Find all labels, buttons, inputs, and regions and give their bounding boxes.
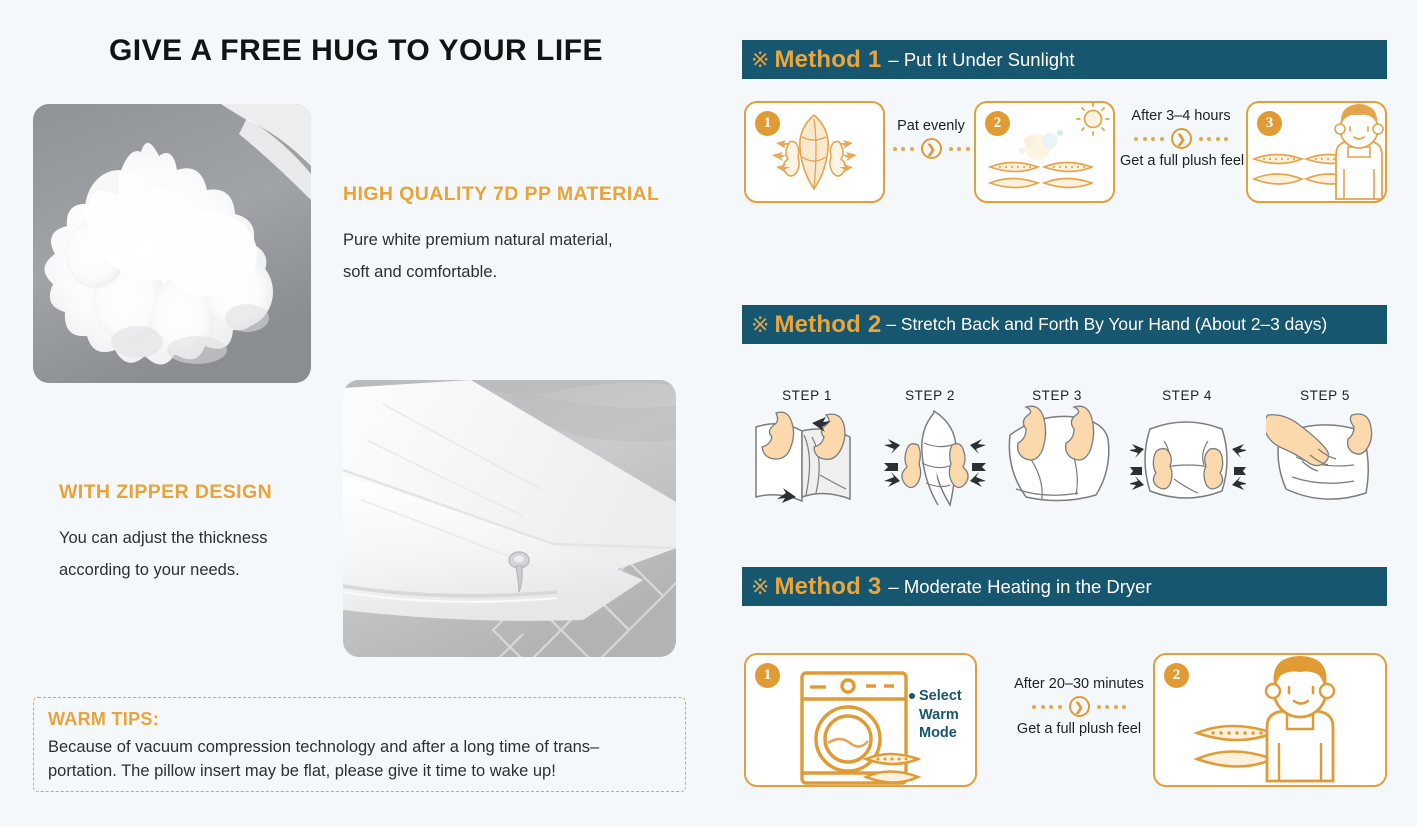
method-2-step-3-label: STEP 3	[1012, 388, 1102, 403]
feature-zipper-line-2: according to your needs.	[59, 554, 272, 586]
feature-zipper-line-1: You can adjust the thickness	[59, 522, 272, 554]
arrow-right-icon: ❯	[1171, 128, 1192, 149]
warm-tips-title: WARM TIPS:	[48, 709, 671, 730]
dots-left	[1032, 705, 1062, 709]
warm-tips-box: WARM TIPS: Because of vacuum compression…	[33, 697, 686, 792]
method-2-subtitle: – Stretch Back and Forth By Your Hand (A…	[886, 314, 1327, 335]
method-3-step-1-panel: 1	[744, 653, 977, 787]
method-1-header: ※ Method 1 – Put It Under Sunlight	[742, 40, 1387, 79]
dots-right	[1199, 137, 1229, 141]
hands-pull-apart-icon	[1130, 405, 1246, 515]
method-2-step-4-label: STEP 4	[1142, 388, 1232, 403]
dots-left	[1134, 137, 1164, 141]
bullet-icon	[909, 693, 915, 699]
note-line-1: Select	[909, 687, 962, 706]
step-badge: 1	[755, 663, 780, 688]
connector-bottom-text: Get a full plush feel	[1005, 721, 1153, 737]
method-2-step-1-label: STEP 1	[762, 388, 852, 403]
feature-zipper-title: WITH ZIPPER DESIGN	[59, 481, 272, 504]
method-1-connector-1: Pat evenly ❯	[890, 118, 972, 163]
method-1-connector-2: After 3–4 hours ❯ Get a full plush feel	[1120, 108, 1242, 169]
method-2-step-5-label: STEP 5	[1280, 388, 1370, 403]
method-3-step-2-panel: 2	[1153, 653, 1387, 787]
arrow-right-icon: ❯	[1069, 696, 1090, 717]
method-1-step-1-panel: 1	[744, 101, 885, 203]
method-3-subtitle: – Moderate Heating in the Dryer	[888, 576, 1151, 598]
asterisk-icon: ※	[751, 314, 769, 336]
hand-smooth-pillow-icon	[1266, 405, 1382, 515]
connector-arrow-row: ❯	[1120, 128, 1242, 149]
warm-tips-line-2: portation. The pillow insert may be flat…	[48, 760, 671, 784]
feature-material-line-1: Pure white premium natural material,	[343, 224, 659, 256]
select-warm-mode-note: Select Warm Mode	[909, 687, 962, 743]
step-badge: 1	[755, 111, 780, 136]
page-title: GIVE A FREE HUG TO YOUR LIFE	[0, 34, 712, 68]
method-1-name: Method 1	[774, 46, 881, 74]
connector-top-text: After 3–4 hours	[1120, 108, 1242, 124]
method-1-step-3-panel: 3	[1246, 101, 1387, 203]
step-badge: 3	[1257, 111, 1282, 136]
right-column: ※ Method 1 – Put It Under Sunlight 1	[742, 0, 1387, 827]
method-2-header: ※ Method 2 – Stretch Back and Forth By Y…	[742, 305, 1387, 344]
arrow-right-icon: ❯	[921, 138, 942, 159]
hands-press-down-icon	[1000, 405, 1116, 515]
asterisk-icon: ※	[751, 576, 769, 598]
connector-arrow-row: ❯	[890, 138, 972, 159]
left-column: GIVE A FREE HUG TO YOUR LIFE	[0, 0, 712, 827]
asterisk-icon: ※	[751, 49, 769, 71]
hands-squeeze-vertical-icon	[876, 405, 992, 515]
connector-top-text: Pat evenly	[890, 118, 972, 134]
connector-arrow-row: ❯	[1005, 696, 1153, 717]
person-with-pillows-icon	[1155, 655, 1385, 785]
note-line-2: Warm	[909, 706, 962, 725]
feature-material-title: HIGH QUALITY 7D PP MATERIAL	[343, 183, 659, 206]
method-3-connector: After 20–30 minutes ❯ Get a full plush f…	[1005, 676, 1153, 737]
method-1-step-2-panel: 2	[974, 101, 1115, 203]
dots-right	[949, 147, 970, 151]
feature-zipper: WITH ZIPPER DESIGN You can adjust the th…	[59, 481, 272, 586]
step-badge: 2	[985, 111, 1010, 136]
connector-bottom-text: Get a full plush feel	[1120, 153, 1242, 169]
dots-left	[893, 147, 914, 151]
zipper-pillow-photo	[343, 380, 676, 657]
two-hands-stretch-icon	[750, 405, 866, 515]
step-badge: 2	[1164, 663, 1189, 688]
feature-material-line-2: soft and comfortable.	[343, 256, 659, 288]
method-3-header: ※ Method 3 – Moderate Heating in the Dry…	[742, 567, 1387, 606]
feature-material: HIGH QUALITY 7D PP MATERIAL Pure white p…	[343, 183, 659, 288]
method-2-step-2-label: STEP 2	[885, 388, 975, 403]
fiber-filling-photo	[33, 104, 311, 383]
method-3-name: Method 3	[774, 573, 881, 601]
dots-right	[1097, 705, 1127, 709]
method-1-subtitle: – Put It Under Sunlight	[888, 49, 1074, 71]
infographic-page: GIVE A FREE HUG TO YOUR LIFE	[0, 0, 1417, 827]
note-line-3: Mode	[909, 724, 962, 743]
warm-tips-line-1: Because of vacuum compression technology…	[48, 736, 671, 760]
method-2-name: Method 2	[774, 311, 881, 339]
connector-top-text: After 20–30 minutes	[1005, 676, 1153, 692]
